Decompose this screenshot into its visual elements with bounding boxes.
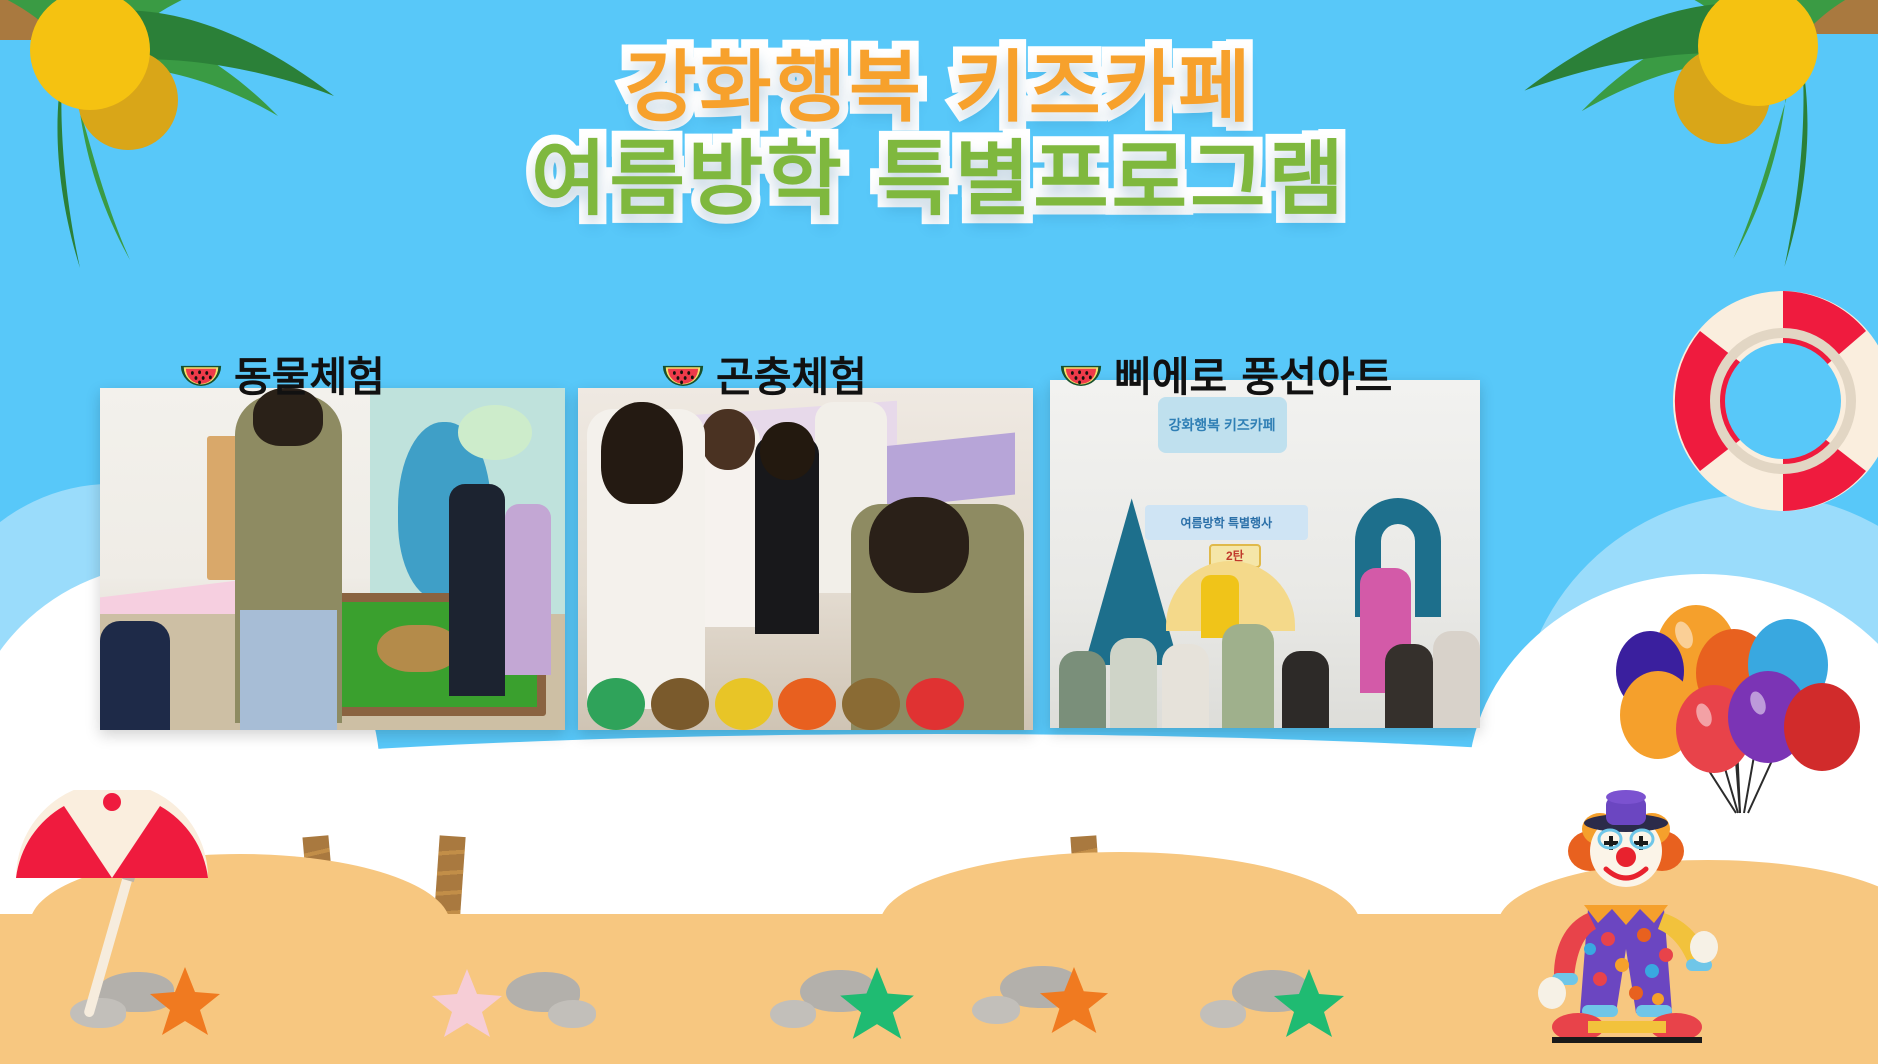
venue-logo-text: 강화행복 키즈카페 <box>1169 418 1276 433</box>
photo-animal-experience[interactable] <box>100 388 565 730</box>
watermelon-icon <box>1058 350 1104 396</box>
beach-rock <box>770 1000 816 1028</box>
poster-title: 강화행복 키즈카페 여름방학 특별프로그램 <box>0 46 1878 225</box>
section-label-animal: 동물체험 <box>178 343 385 403</box>
section-label-row: 동물체험 곤충체험 <box>0 325 1878 389</box>
section-label-balloon-art: 삐에로 풍선아트 <box>1058 343 1392 403</box>
section-label-insect: 곤충체험 <box>660 343 867 403</box>
life-ring-icon <box>1668 286 1878 521</box>
photo-balloon-art-content: 강화행복 키즈카페 여름방학 특별행사 2탄 <box>1050 380 1480 728</box>
photo-balloon-art[interactable]: 강화행복 키즈카페 여름방학 특별행사 2탄 <box>1050 380 1480 728</box>
starfish-green-icon <box>838 965 916 1046</box>
beach-umbrella-icon <box>6 790 236 1035</box>
section-label-insect-text: 곤충체험 <box>716 343 867 403</box>
section-label-animal-text: 동물체험 <box>234 343 385 403</box>
venue-logo-on-wall: 강화행복 키즈카페 <box>1158 397 1287 453</box>
title-line-1: 강화행복 키즈카페 <box>0 46 1878 130</box>
event-banner-text: 여름방학 특별행사 <box>1180 514 1272 531</box>
beach-rock <box>1200 1000 1246 1028</box>
poster-canvas: 강화행복 키즈카페 여름방학 특별프로그램 동물체험 <box>0 0 1878 1064</box>
beach-rock <box>548 1000 596 1028</box>
title-line-2: 여름방학 특별프로그램 <box>0 136 1878 225</box>
watermelon-icon <box>660 350 706 396</box>
event-banner-on-wall: 여름방학 특별행사 <box>1145 505 1308 540</box>
starfish-orange-icon <box>1038 965 1110 1040</box>
section-label-balloon-art-text: 삐에로 풍선아트 <box>1114 343 1392 403</box>
watermelon-icon <box>178 350 224 396</box>
starfish-green-icon <box>1272 967 1346 1044</box>
photo-insect-experience[interactable] <box>578 388 1033 730</box>
starfish-pink-icon <box>430 967 504 1044</box>
clown-figure-icon <box>1526 789 1726 1054</box>
photo-insect-content <box>578 388 1033 730</box>
beach-rock <box>972 996 1020 1024</box>
photo-animal-content <box>100 388 565 730</box>
